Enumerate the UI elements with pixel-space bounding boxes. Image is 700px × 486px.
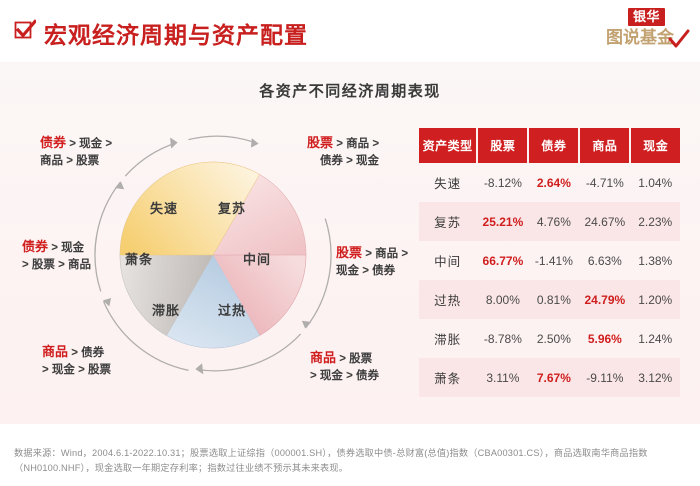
table-header-row: 资产类型 股票 债券 商品 现金	[419, 128, 680, 163]
col-header-commodity: 商品	[579, 128, 630, 163]
allocation-rest: > 债券	[68, 347, 104, 359]
cell-commodity: 6.63%	[579, 241, 630, 280]
page-header: 宏观经济周期与资产配置 银华 图说基金	[0, 0, 700, 62]
allocation-label-right: 股票 > 商品 > 现金 > 债券	[336, 244, 408, 280]
brand-logo: 银华 图说基金	[606, 8, 688, 56]
page-footer: 数据来源：Wind，2004.6.1-2022.10.31；股票选取上证综指（0…	[0, 424, 700, 486]
cell-stocks: 3.11%	[477, 358, 528, 397]
cell-cash: 3.12%	[630, 358, 680, 397]
allocation-highlight: 股票	[336, 245, 362, 260]
allocation-highlight: 债券	[22, 239, 48, 254]
logo-sub-name: 图说基金	[606, 28, 674, 48]
pie-label-overheat: 过热	[218, 300, 246, 319]
page-title: 宏观经济周期与资产配置	[44, 16, 308, 50]
cell-commodity: 24.67%	[579, 202, 630, 241]
data-source-note: 数据来源：Wind，2004.6.1-2022.10.31；股票选取上证综指（0…	[14, 446, 690, 476]
table-row: 过热 8.00% 0.81% 24.79% 1.20%	[419, 280, 680, 319]
economic-cycle-wheel: 失速 复苏 萧条 中间 滞胀 过热	[88, 130, 338, 380]
row-label: 萧条	[419, 358, 477, 397]
allocation-rest: > 股票	[336, 353, 372, 365]
cell-commodity: -9.11%	[579, 358, 630, 397]
table-row: 失速 -8.12% 2.64% -4.71% 1.04%	[419, 163, 680, 202]
cell-stocks: 8.00%	[477, 280, 528, 319]
cell-bonds: 4.76%	[528, 202, 579, 241]
cell-bonds: 2.50%	[528, 319, 579, 358]
allocation-highlight: 商品	[310, 350, 336, 365]
allocation-highlight: 股票	[307, 135, 333, 150]
cell-bonds: 2.64%	[528, 163, 579, 202]
allocation-label-top-left: 债券 > 现金 > 商品 > 股票	[40, 134, 112, 170]
pie-label-depression: 萧条	[125, 249, 153, 268]
allocation-highlight: 债券	[40, 135, 66, 150]
row-label: 失速	[419, 163, 477, 202]
allocation-line2: > 现金 > 股票	[42, 362, 111, 379]
col-header-asset-type: 资产类型	[419, 128, 477, 163]
table-row: 萧条 3.11% 7.67% -9.11% 3.12%	[419, 358, 680, 397]
checkbox-checked-icon	[14, 19, 36, 41]
pie-label-stall: 失速	[150, 198, 178, 217]
allocation-label-bottom-right: 商品 > 股票 > 现金 > 债券	[310, 349, 379, 385]
cell-cash: 1.38%	[630, 241, 680, 280]
cell-stocks: -8.12%	[477, 163, 528, 202]
cell-commodity: -4.71%	[579, 163, 630, 202]
cell-bonds: -1.41%	[528, 241, 579, 280]
performance-table: 资产类型 股票 债券 商品 现金 失速 -8.12% 2.64% -4.71% …	[419, 128, 681, 397]
cell-stocks: 25.21%	[477, 202, 528, 241]
cell-cash: 1.04%	[630, 163, 680, 202]
pie-label-stagflation: 滞胀	[152, 300, 180, 319]
allocation-rest: > 现金 >	[66, 138, 112, 150]
allocation-highlight: 商品	[42, 344, 68, 359]
allocation-line2: 债券 > 现金	[307, 153, 379, 170]
allocation-rest: > 商品 >	[362, 248, 408, 260]
allocation-line2: > 股票 > 商品	[22, 257, 91, 274]
table-row: 中间 66.77% -1.41% 6.63% 1.38%	[419, 241, 680, 280]
cell-bonds: 0.81%	[528, 280, 579, 319]
allocation-line2: 现金 > 债券	[336, 263, 408, 280]
col-header-bonds: 债券	[528, 128, 579, 163]
allocation-rest: > 商品 >	[333, 138, 379, 150]
cell-cash: 1.20%	[630, 280, 680, 319]
cell-stocks: 66.77%	[477, 241, 528, 280]
allocation-label-top-right: 股票 > 商品 > 债券 > 现金	[307, 134, 379, 170]
table-row: 复苏 25.21% 4.76% 24.67% 2.23%	[419, 202, 680, 241]
allocation-label-bottom-left: 商品 > 债券 > 现金 > 股票	[42, 343, 111, 379]
cell-cash: 1.24%	[630, 319, 680, 358]
cell-commodity: 5.96%	[579, 319, 630, 358]
row-label: 过热	[419, 280, 477, 319]
content-panel: 各资产不同经济周期表现	[0, 62, 700, 424]
cell-bonds: 7.67%	[528, 358, 579, 397]
chart-title: 各资产不同经济周期表现	[0, 80, 700, 101]
allocation-rest: > 现金	[48, 242, 84, 254]
allocation-line2: 商品 > 股票	[40, 153, 112, 170]
cell-cash: 2.23%	[630, 202, 680, 241]
cell-commodity: 24.79%	[579, 280, 630, 319]
pie-label-middle: 中间	[243, 249, 271, 268]
table-row: 滞胀 -8.78% 2.50% 5.96% 1.24%	[419, 319, 680, 358]
col-header-stocks: 股票	[477, 128, 528, 163]
cell-stocks: -8.78%	[477, 319, 528, 358]
logo-brand-name: 银华	[628, 8, 665, 26]
allocation-line2: > 现金 > 债券	[310, 368, 379, 385]
row-label: 复苏	[419, 202, 477, 241]
row-label: 中间	[419, 241, 477, 280]
col-header-cash: 现金	[630, 128, 680, 163]
pie-label-recovery: 复苏	[218, 198, 246, 217]
allocation-label-left: 债券 > 现金 > 股票 > 商品	[22, 238, 91, 274]
row-label: 滞胀	[419, 319, 477, 358]
check-mark-icon	[668, 28, 690, 50]
